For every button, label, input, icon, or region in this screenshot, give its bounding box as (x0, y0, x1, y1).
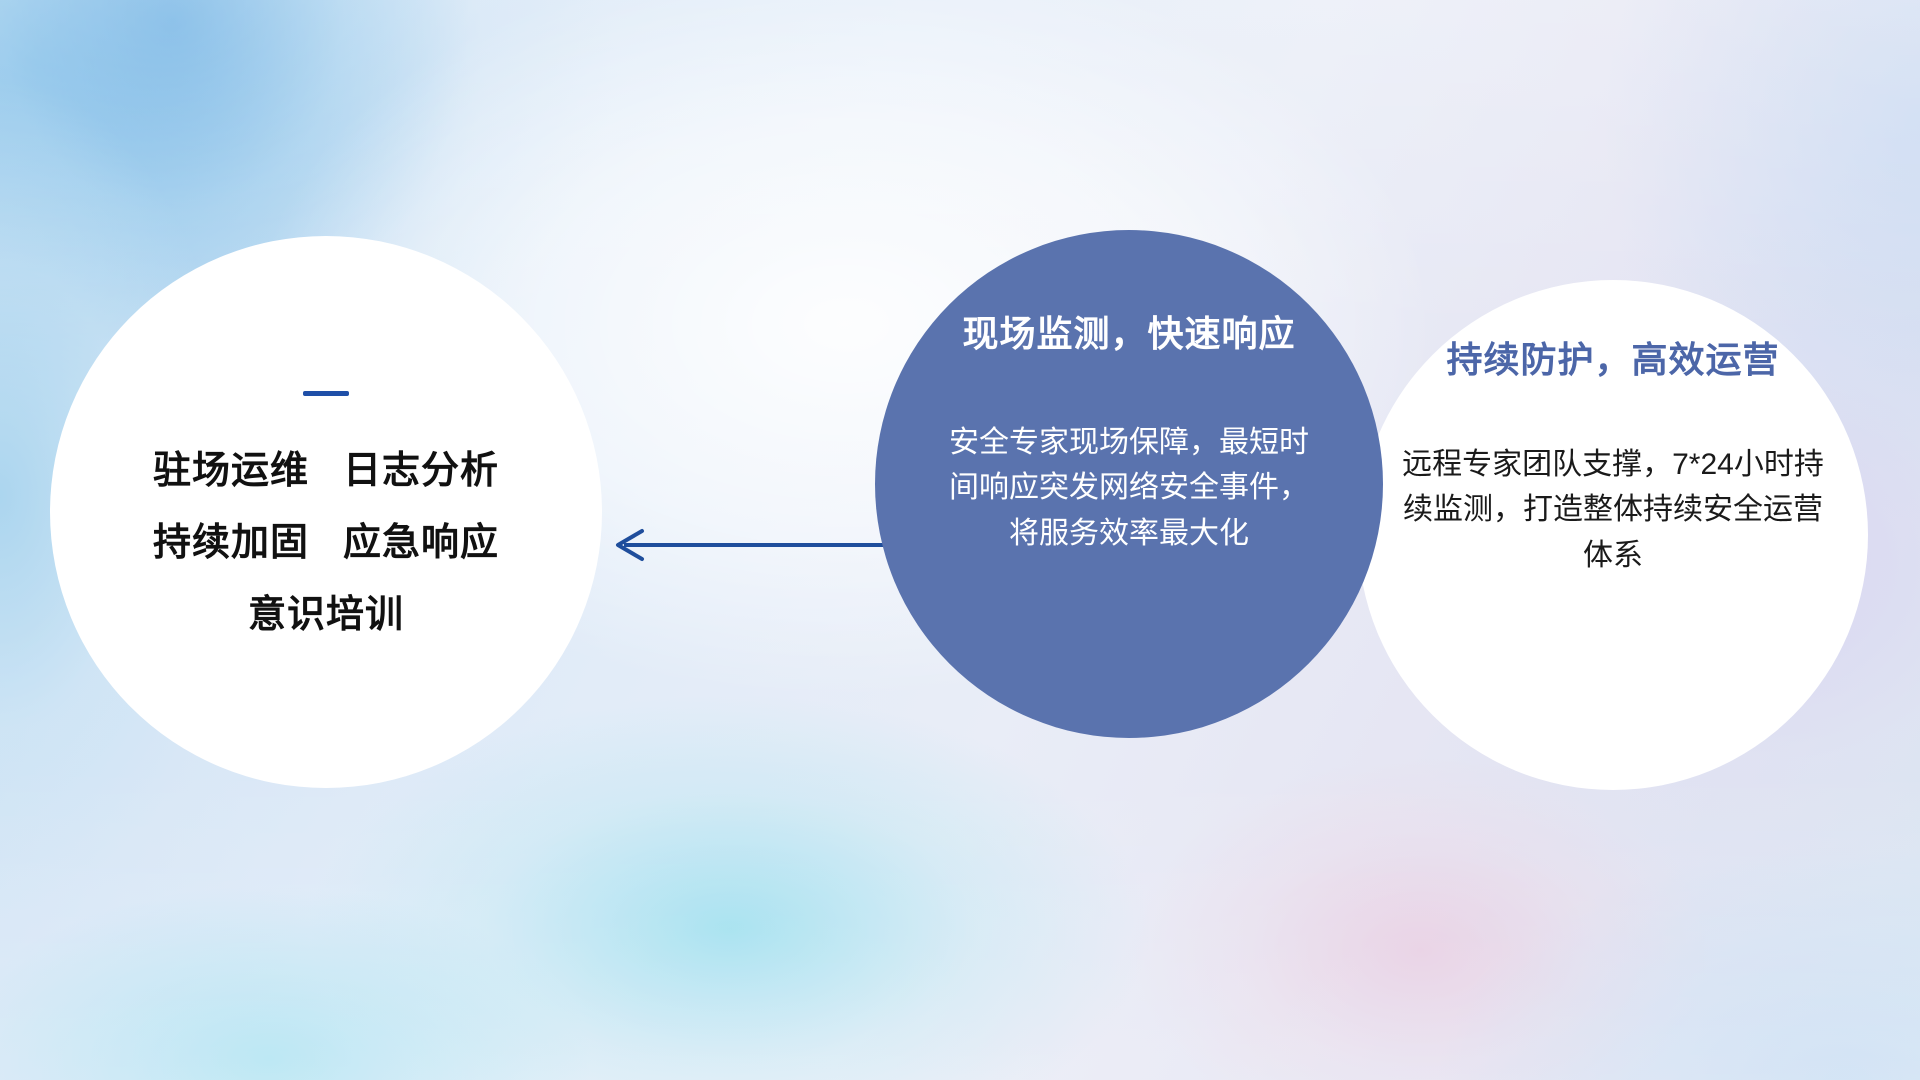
keyword-chip: 持续加固 (153, 524, 309, 562)
right-card-body: 远程专家团队支撑，7*24小时持续监测，打造整体持续安全运营体系 (1399, 442, 1827, 579)
middle-card-body: 安全专家现场保障，最短时间响应突发网络安全事件，将服务效率最大化 (938, 420, 1320, 557)
keyword-chip: 日志分析 (343, 452, 499, 490)
flow-arrow-icon (608, 520, 908, 570)
keyword-chip: 驻场运维 (153, 452, 309, 490)
right-info-circle: 持续防护，高效运营 远程专家团队支撑，7*24小时持续监测，打造整体持续安全运营… (1358, 280, 1868, 790)
middle-card-title: 现场监测，快速响应 (962, 314, 1295, 354)
right-card-title: 持续防护，高效运营 (1446, 340, 1779, 380)
keyword-row-2: 持续加固 应急响应 (153, 524, 499, 562)
keyword-chip: 意识培训 (248, 596, 404, 634)
middle-info-circle: 现场监测，快速响应 安全专家现场保障，最短时间响应突发网络安全事件，将服务效率最… (875, 230, 1383, 738)
keyword-row-3: 意识培训 (248, 596, 404, 634)
slide-canvas: 驻场运维 日志分析 持续加固 应急响应 意识培训 持续防护，高效运营 远程专家团… (0, 0, 1920, 1080)
keyword-chip: 应急响应 (343, 524, 499, 562)
title-divider-dash (303, 391, 349, 396)
keyword-row-1: 驻场运维 日志分析 (153, 452, 499, 490)
left-keyword-circle: 驻场运维 日志分析 持续加固 应急响应 意识培训 (50, 236, 602, 788)
middle-card-title-wrap: 现场监测，快速响应 (962, 314, 1295, 354)
